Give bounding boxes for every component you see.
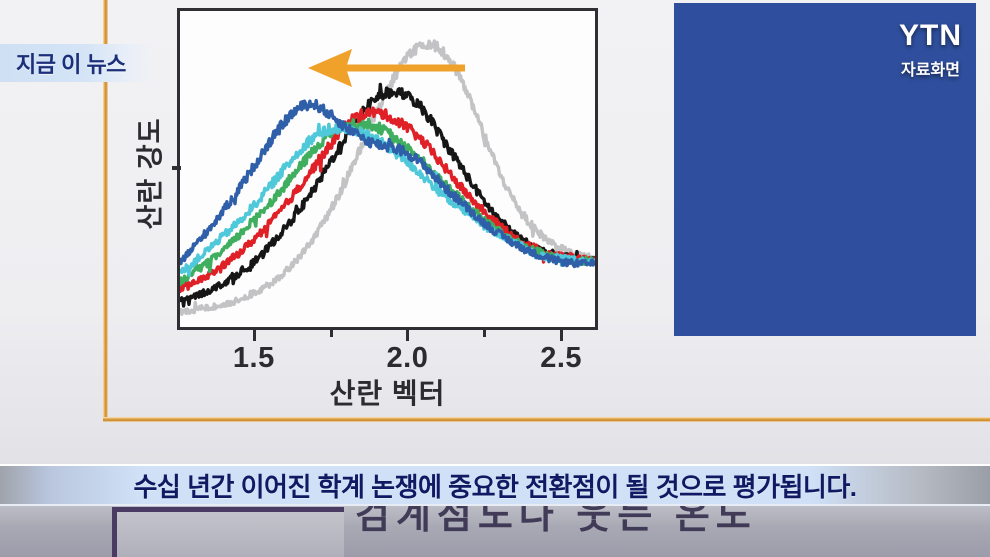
chart-plot-box xyxy=(177,8,598,330)
chart-x-minor-tick xyxy=(330,330,333,337)
now-news-label: 지금 이 뉴스 xyxy=(16,47,126,79)
chart-y-axis-label-text: 산란 강도 xyxy=(129,117,168,229)
chart-x-major-tick xyxy=(560,330,563,341)
chart-x-tick-label: 1.5 xyxy=(233,342,275,375)
simulation-pattern-image: YTN 자료화면 xyxy=(674,3,976,336)
ytn-source-caption: 자료화면 xyxy=(899,56,962,80)
bottom-ticker-box xyxy=(112,507,344,557)
chart-x-tick-label: 2.5 xyxy=(540,342,582,375)
subtitle-text: 수십 년간 이어진 학계 논쟁에 중요한 전환점이 될 것으로 평가됩니다. xyxy=(134,467,857,504)
broadcast-screen: 지금 이 뉴스 산란 강도 1.52.02.5 산란 벡터 YTN 자료화면 수… xyxy=(0,0,990,557)
bottom-ticker-clipped-text: 검계점도나 웃는 온도 xyxy=(355,506,757,539)
chart-y-axis-label: 산란 강도 xyxy=(126,88,170,258)
subtitle-bar: 수십 년간 이어진 학계 논쟁에 중요한 전환점이 될 것으로 평가됩니다. xyxy=(0,464,990,506)
chart-series-curve-blue xyxy=(180,101,595,267)
arrow-head xyxy=(308,49,352,87)
chart-x-minor-tick xyxy=(483,330,486,337)
chart-x-axis-label: 산란 벡터 xyxy=(177,372,598,412)
gold-frame-horizontal-line xyxy=(103,417,990,422)
chart-series-curve-red xyxy=(180,108,595,291)
chart-x-tick-label: 2.0 xyxy=(387,342,429,375)
scattering-chart: 산란 강도 1.52.02.5 산란 벡터 xyxy=(118,0,618,415)
bottom-ticker-strip: 검계점도나 웃는 온도 xyxy=(0,506,990,557)
chart-x-major-tick xyxy=(406,330,409,341)
chart-curves-svg xyxy=(180,11,595,327)
chart-x-major-tick xyxy=(253,330,256,341)
ytn-logo: YTN 자료화면 xyxy=(899,19,962,80)
ytn-logo-text: YTN xyxy=(899,19,962,53)
